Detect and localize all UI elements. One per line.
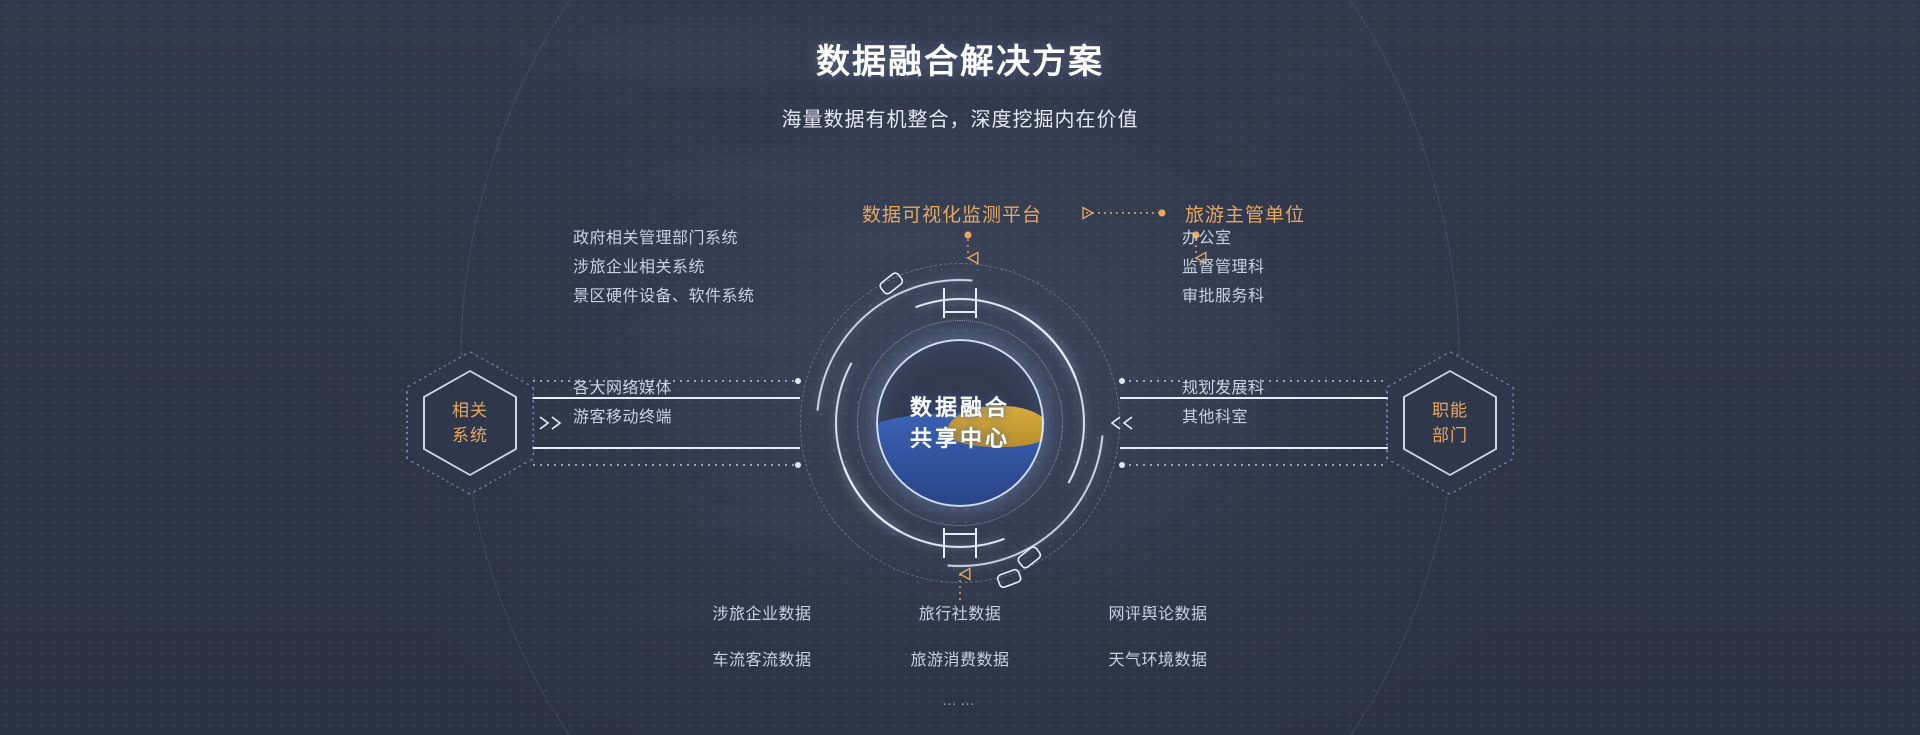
- left-item-tourism-enterprise-systems[interactable]: 涉旅企业相关系统: [573, 253, 705, 277]
- right-item-supervision-dept[interactable]: 监督管理科: [1182, 253, 1265, 277]
- bottom-item-tourism-enterprise-data[interactable]: 涉旅企业数据: [689, 600, 835, 624]
- label-visualization-platform[interactable]: 数据可视化监测平台: [862, 200, 1042, 227]
- right-item-approval-service-dept[interactable]: 审批服务科: [1182, 282, 1265, 306]
- bottom-ellipsis: ……: [0, 692, 1920, 709]
- hexagon-related-systems[interactable]: 相关 系统: [423, 370, 517, 476]
- hexagon-functional-depts[interactable]: 职能 部门: [1403, 370, 1497, 476]
- bottom-item-weather-environment-data[interactable]: 天气环境数据: [1085, 646, 1231, 670]
- right-item-other-dept[interactable]: 其他科室: [1182, 403, 1248, 427]
- hexagon-label-line2: 部门: [1432, 423, 1468, 448]
- left-item-scenic-hardware-software[interactable]: 景区硬件设备、软件系统: [573, 282, 755, 306]
- hexagon-label-line2: 系统: [452, 423, 488, 448]
- bottom-row-1: 涉旅企业数据 旅行社数据 网评舆论数据: [0, 600, 1920, 624]
- core-label-line1: 数据融合: [910, 392, 1010, 423]
- hexagon-label-line1: 职能: [1432, 398, 1468, 423]
- bottom-item-tourism-consumption-data[interactable]: 旅游消费数据: [887, 646, 1033, 670]
- left-item-tourist-mobile-terminal[interactable]: 游客移动终端: [573, 403, 672, 427]
- header: 数据融合解决方案 海量数据有机整合，深度挖掘内在价值: [0, 34, 1920, 132]
- bottom-row-2: 车流客流数据 旅游消费数据 天气环境数据: [0, 646, 1920, 670]
- label-tourism-authority[interactable]: 旅游主管单位: [1185, 200, 1305, 227]
- bottom-item-online-review-data[interactable]: 网评舆论数据: [1085, 600, 1231, 624]
- right-item-planning-dept[interactable]: 规划发展科: [1182, 374, 1265, 398]
- left-item-network-media[interactable]: 各大网络媒体: [573, 374, 672, 398]
- page-subtitle: 海量数据有机整合，深度挖掘内在价值: [0, 103, 1920, 132]
- infographic-stage: 数据融合解决方案 海量数据有机整合，深度挖掘内在价值: [0, 0, 1920, 735]
- hexagon-label-line1: 相关: [452, 398, 488, 423]
- right-item-office[interactable]: 办公室: [1182, 224, 1232, 248]
- core-label-line2: 共享中心: [910, 423, 1010, 454]
- page-title: 数据融合解决方案: [0, 34, 1920, 83]
- bottom-data-sources: 涉旅企业数据 旅行社数据 网评舆论数据 车流客流数据 旅游消费数据 天气环境数据…: [0, 600, 1920, 709]
- left-item-gov-systems[interactable]: 政府相关管理部门系统: [573, 224, 738, 248]
- core-sphere-data-fusion-center[interactable]: 数据融合 共享中心: [876, 339, 1044, 507]
- hexagon-label-functional-depts: 职能 部门: [1432, 398, 1468, 448]
- core-sphere-label: 数据融合 共享中心: [876, 339, 1044, 507]
- bottom-item-travel-agency-data[interactable]: 旅行社数据: [887, 600, 1033, 624]
- bottom-item-traffic-flow-data[interactable]: 车流客流数据: [689, 646, 835, 670]
- hexagon-label-related-systems: 相关 系统: [452, 398, 488, 448]
